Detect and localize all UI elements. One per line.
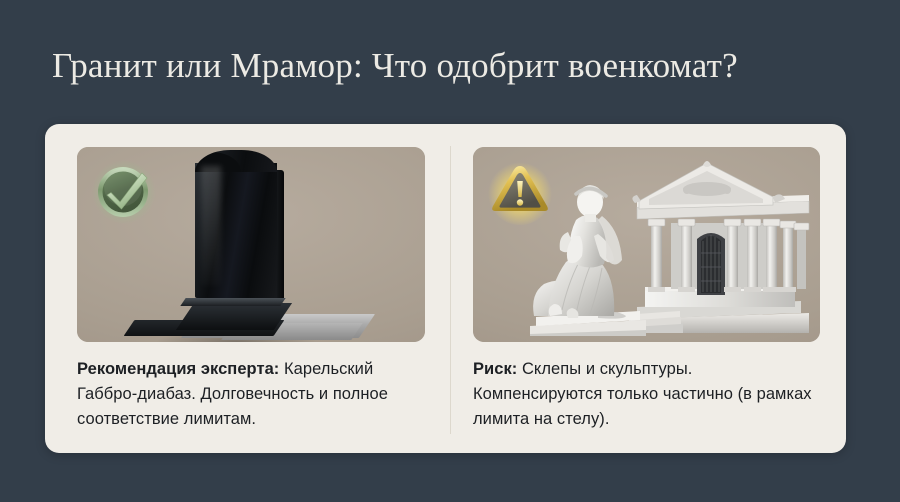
page-title: Гранит или Мрамор: Что одобрит военкомат…: [52, 44, 852, 88]
caption-body-risk: Склепы и скульптуры. Компенсируются толь…: [473, 360, 812, 428]
green-check-circle-icon: [91, 159, 157, 225]
caption-recommended: Рекомендация эксперта: Карельский Габбро…: [77, 357, 425, 432]
caption-lead-recommended: Рекомендация эксперта:: [77, 360, 279, 378]
headstone-gloss-highlight: [201, 166, 221, 286]
slide-root: Гранит или Мрамор: Что одобрит военкомат…: [0, 0, 900, 502]
warning-triangle-icon: [487, 159, 553, 225]
headstone-base-top: [180, 298, 285, 306]
caption-lead-risk: Риск:: [473, 360, 517, 378]
column-divider: [450, 146, 451, 434]
headstone-base-mid: [176, 303, 292, 330]
column-risk: Риск: Склепы и скульптуры. Компенсируютс…: [473, 147, 820, 432]
caption-risk: Риск: Склепы и скульптуры. Компенсируютс…: [473, 357, 820, 432]
column-recommended: Рекомендация эксперта: Карельский Габбро…: [77, 147, 425, 432]
image-frame-marble-mausoleum: [473, 147, 820, 342]
image-frame-granite-headstone: [77, 147, 425, 342]
